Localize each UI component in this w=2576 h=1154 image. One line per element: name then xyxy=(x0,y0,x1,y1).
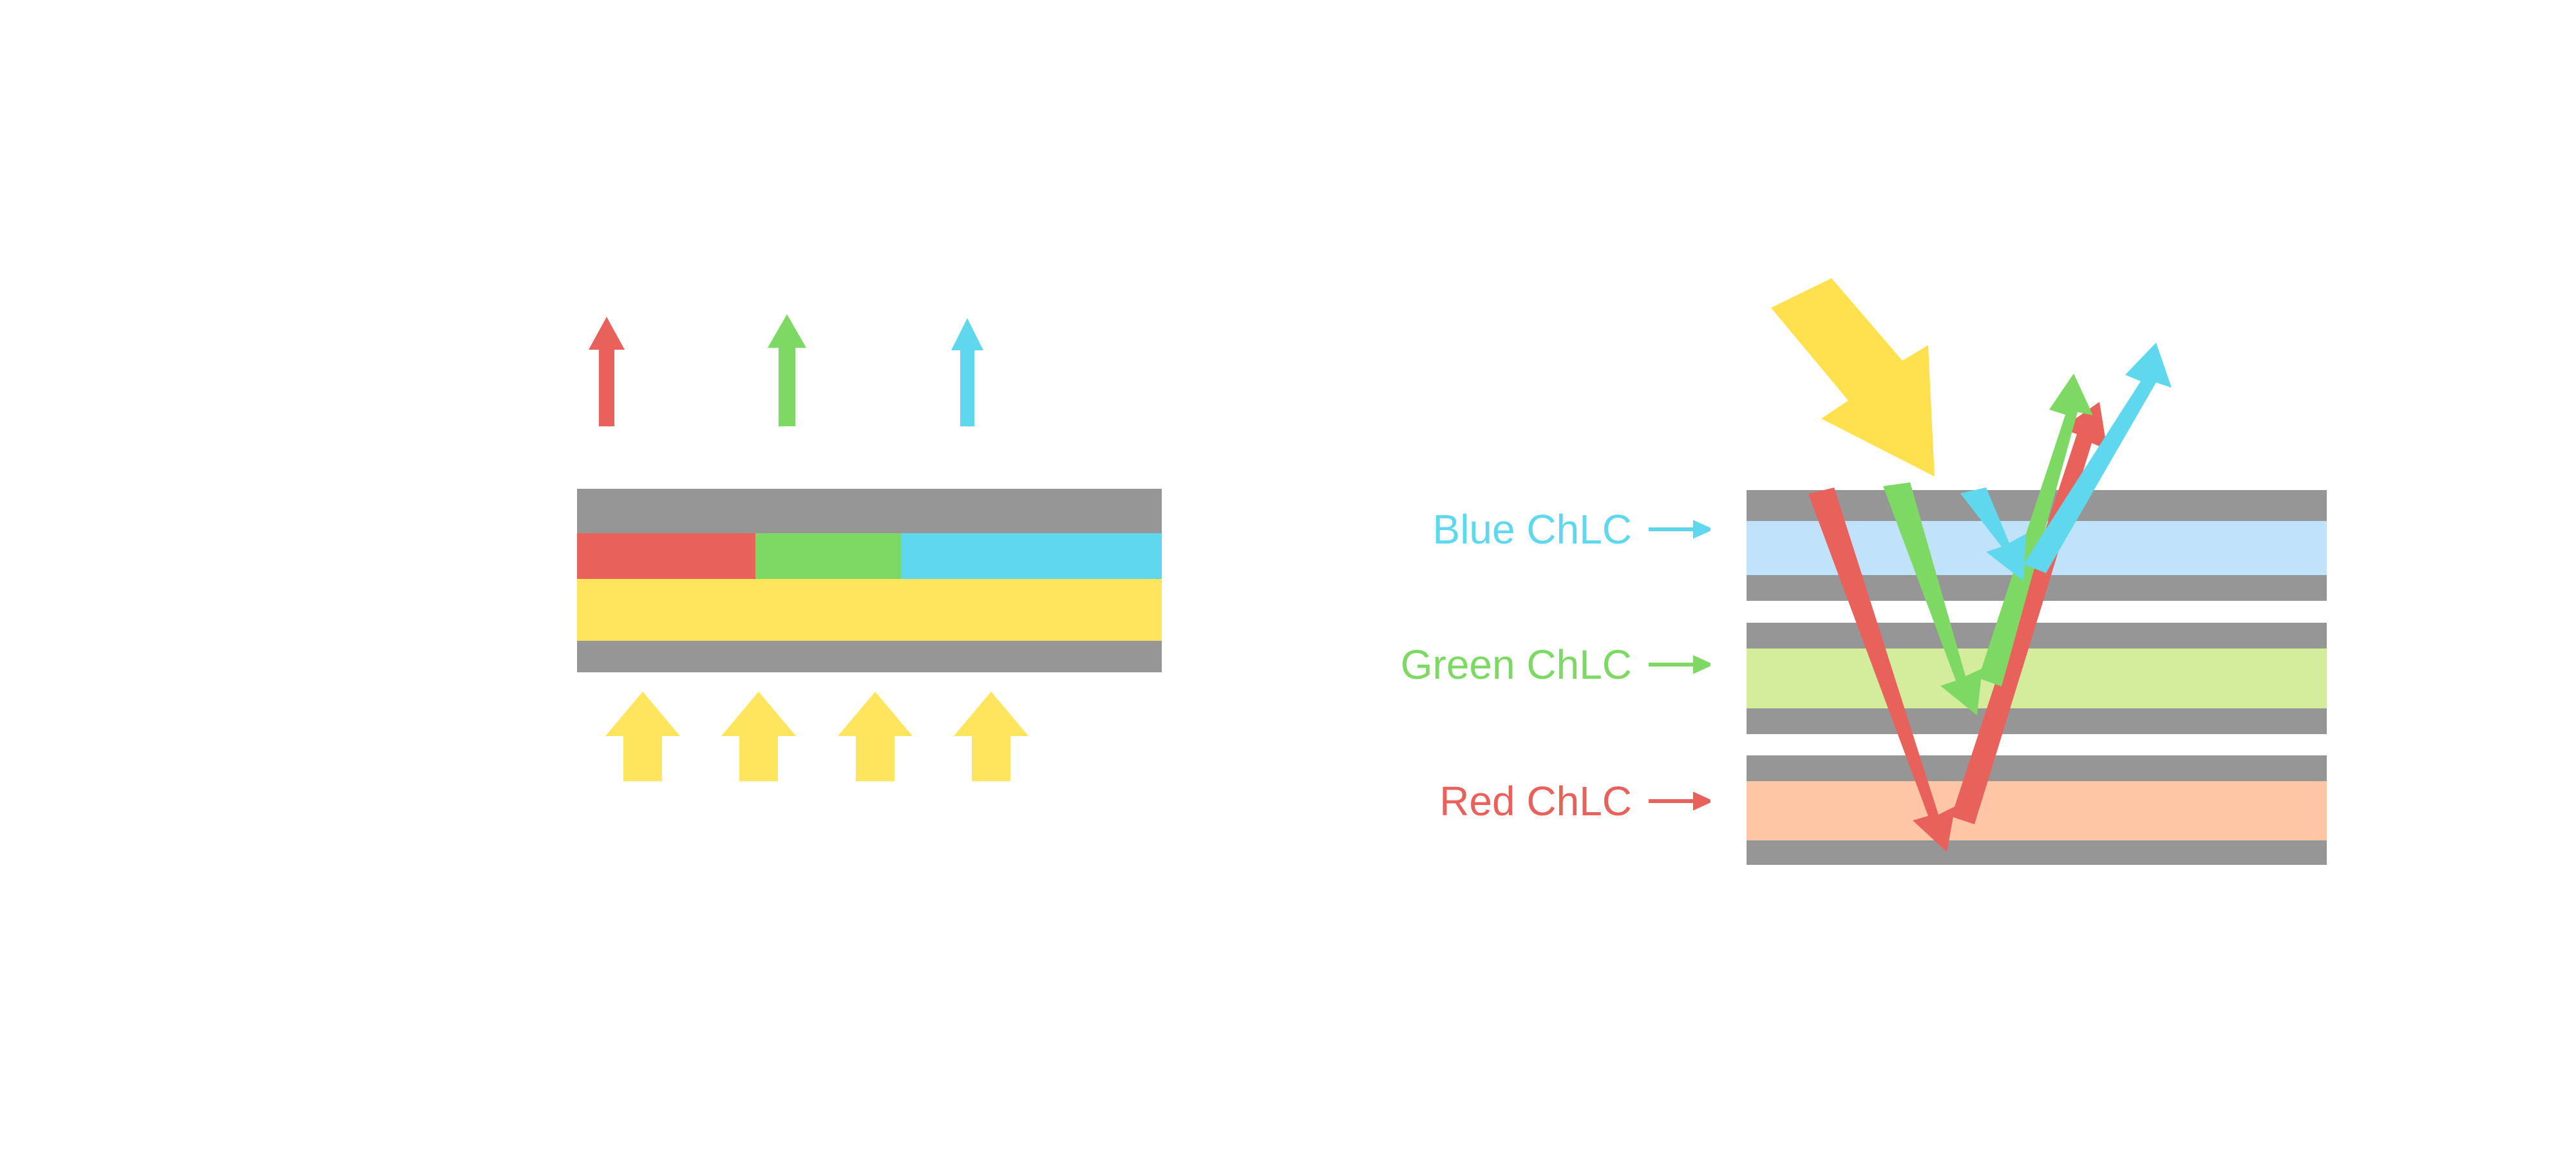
red-chlc-label-arrow-icon xyxy=(1649,788,1710,814)
red-chlc-cell xyxy=(1747,755,2327,865)
red-output-arrow xyxy=(589,317,625,426)
red-cell-top-electrode xyxy=(1747,755,2327,781)
incident-white-light-arrow xyxy=(1771,278,1935,477)
red-segment xyxy=(577,533,755,579)
backlight-layer xyxy=(577,579,1162,641)
blue-chlc-label-arrow-icon xyxy=(1649,516,1710,542)
green-chlc-label-text: Green ChLC xyxy=(1401,644,1632,685)
green-chlc-label-arrow-icon xyxy=(1649,652,1710,677)
backlight-arrow-2 xyxy=(721,692,796,781)
green-cell-top-electrode xyxy=(1747,623,2327,648)
red-chlc-label-text: Red ChLC xyxy=(1439,780,1632,822)
red-chlc-label: Red ChLC xyxy=(1427,780,1710,822)
green-cell-bottom-electrode xyxy=(1747,708,2327,734)
top-electrode xyxy=(577,489,1162,533)
blue-chlc-label-text: Blue ChLC xyxy=(1433,509,1633,550)
emissive-stack-svg xyxy=(528,309,1249,811)
red-cell-bottom-electrode xyxy=(1747,840,2327,865)
reflective-chlc-stack-panel xyxy=(1726,270,2344,889)
green-output-arrow xyxy=(768,314,806,426)
green-chlc-cell xyxy=(1747,623,2327,734)
green-chlc-layer xyxy=(1747,648,2327,708)
reflective-chlc-stack-svg xyxy=(1726,270,2344,889)
backlight-arrow-1 xyxy=(605,692,680,781)
cyan-segment xyxy=(901,533,1162,579)
backlight-arrow-3 xyxy=(838,692,913,781)
green-chlc-label: Green ChLC xyxy=(1378,644,1710,685)
red-chlc-layer xyxy=(1747,781,2327,840)
emissive-stack-panel xyxy=(528,309,1249,811)
cyan-output-arrow xyxy=(951,318,983,426)
backlight-arrow-4 xyxy=(954,692,1028,781)
blue-chlc-label: Blue ChLC xyxy=(1427,509,1710,550)
green-segment xyxy=(755,533,901,579)
diagram-canvas: Blue ChLC Green ChLC Red ChLC xyxy=(0,0,2576,1154)
bottom-electrode xyxy=(577,641,1162,672)
